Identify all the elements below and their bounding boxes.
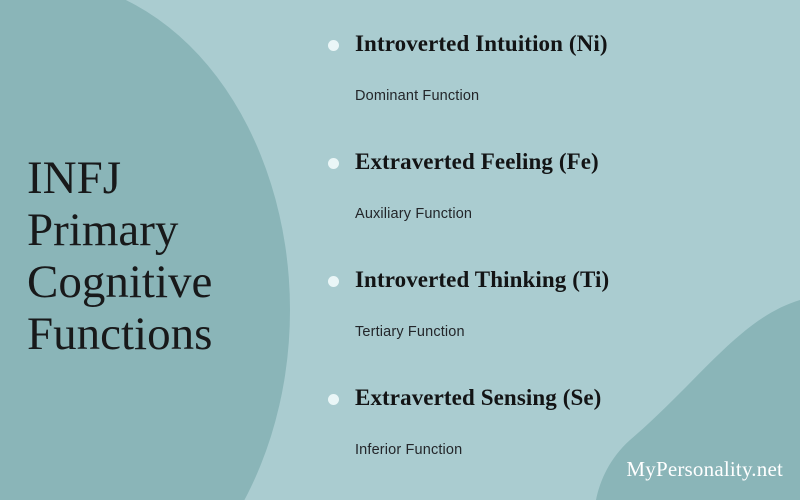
- bullet-icon: [328, 394, 339, 405]
- watermark: MyPersonality.net: [626, 457, 783, 482]
- page-title-line-2: Primary: [27, 204, 287, 256]
- cognitive-functions-list: Introverted Intuition (Ni) Dominant Func…: [326, 28, 781, 500]
- function-role: Dominant Function: [355, 88, 479, 104]
- function-role: Tertiary Function: [355, 324, 465, 340]
- function-name: Introverted Intuition (Ni): [355, 31, 608, 57]
- function-role: Auxiliary Function: [355, 206, 472, 222]
- slide-canvas: INFJ Primary Cognitive Functions Introve…: [0, 0, 800, 500]
- bullet-icon: [328, 276, 339, 287]
- list-item: Extraverted Sensing (Se) Inferior Functi…: [326, 382, 781, 500]
- bullet-icon: [328, 40, 339, 51]
- list-item: Extraverted Feeling (Fe) Auxiliary Funct…: [326, 146, 781, 264]
- page-title-line-1: INFJ: [27, 152, 287, 204]
- bullet-icon: [328, 158, 339, 169]
- function-name: Extraverted Feeling (Fe): [355, 149, 599, 175]
- function-name: Introverted Thinking (Ti): [355, 267, 609, 293]
- function-name: Extraverted Sensing (Se): [355, 385, 601, 411]
- page-title: INFJ Primary Cognitive Functions: [27, 152, 287, 360]
- page-title-line-4: Functions: [27, 308, 287, 360]
- list-item: Introverted Intuition (Ni) Dominant Func…: [326, 28, 781, 146]
- list-item: Introverted Thinking (Ti) Tertiary Funct…: [326, 264, 781, 382]
- function-role: Inferior Function: [355, 442, 462, 458]
- page-title-line-3: Cognitive: [27, 256, 287, 308]
